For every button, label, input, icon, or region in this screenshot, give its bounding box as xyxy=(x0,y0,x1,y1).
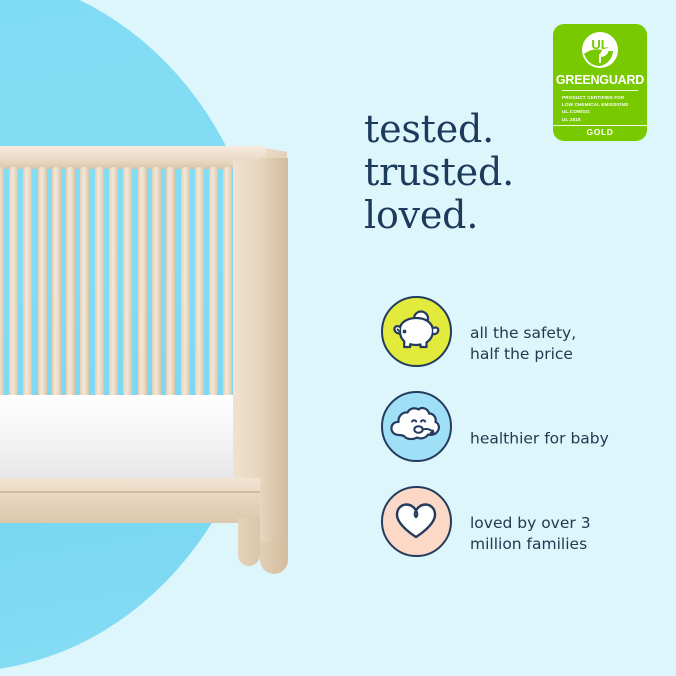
crib-base-rail xyxy=(0,478,266,523)
piggy-bank-icon xyxy=(381,296,452,367)
headline-line-3: loved. xyxy=(364,194,654,237)
heart-icon xyxy=(381,486,452,557)
feature-item-loved: loved by over 3 million families xyxy=(381,486,661,581)
feature-list: all the safety, half the price xyxy=(381,296,661,581)
feature-item-safety: all the safety, half the price xyxy=(381,296,661,391)
feature-item-loved-label: loved by over 3 million families xyxy=(470,513,591,555)
badge-divider xyxy=(562,90,638,91)
feature-item-healthier-label: healthier for baby xyxy=(470,428,609,449)
feature-healthier-line-1: healthier for baby xyxy=(470,428,609,449)
badge-brand-name: GREENGUARD xyxy=(553,73,647,87)
crib-leg xyxy=(238,518,260,566)
crib-corner-post xyxy=(260,158,288,548)
feature-loved-line-1: loved by over 3 xyxy=(470,513,591,534)
headline-line-1: tested. xyxy=(364,108,654,151)
headline-line-2: trusted. xyxy=(364,151,654,194)
crib-inner-post xyxy=(233,160,261,490)
crib-base-rail-seam xyxy=(0,491,261,493)
ul-leaf-logo-icon: UL xyxy=(580,30,620,70)
cloud-blowing-icon xyxy=(381,391,452,462)
promo-banner: UL GREENGUARD PRODUCT CERTIFIED FOR LOW … xyxy=(0,0,676,676)
badge-fine-line-1: PRODUCT CERTIFIED FOR xyxy=(562,94,640,101)
feature-safety-line-1: all the safety, xyxy=(470,323,576,344)
crib-corner-post-foot xyxy=(260,542,288,574)
feature-item-healthier: healthier for baby xyxy=(381,391,661,486)
feature-loved-line-2: million families xyxy=(470,534,591,555)
feature-safety-line-2: half the price xyxy=(470,344,576,365)
crib-mattress xyxy=(0,395,254,490)
page-title: tested. trusted. loved. xyxy=(364,108,654,237)
feature-item-safety-label: all the safety, half the price xyxy=(470,323,576,365)
wooden-crib-illustration xyxy=(0,140,296,570)
